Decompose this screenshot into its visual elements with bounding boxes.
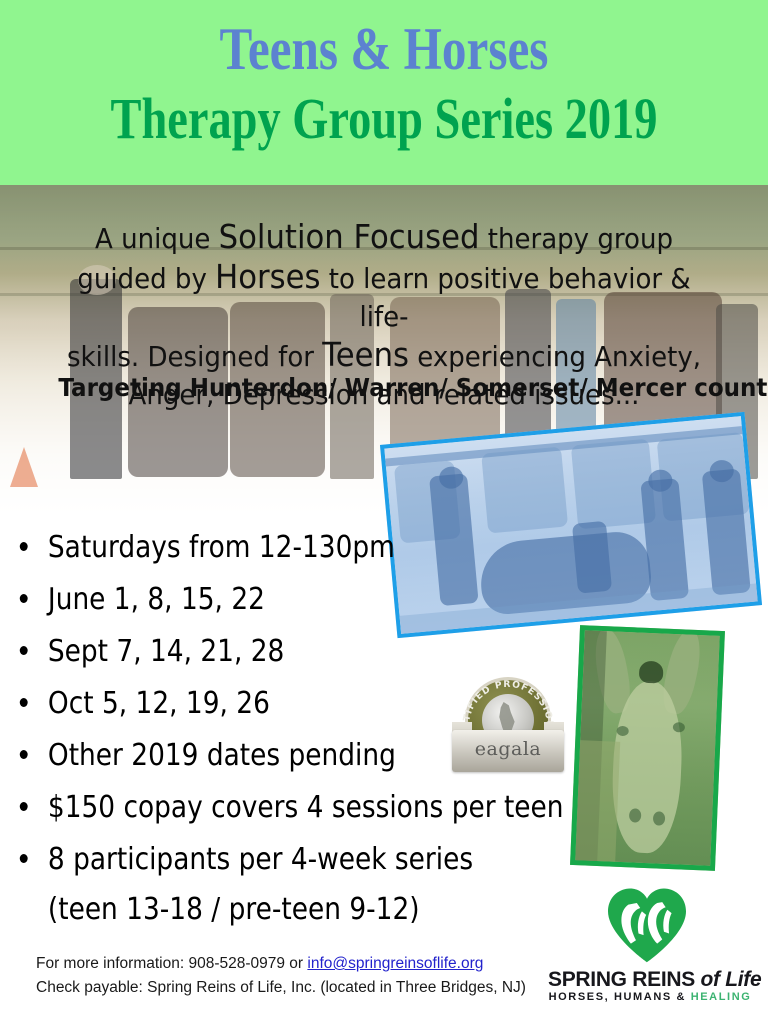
bullet-dot-icon <box>20 750 28 759</box>
flyer-page: Teens & Horses Therapy Group Series 2019… <box>0 0 768 1024</box>
list-item-label: June 1, 8, 15, 22 <box>48 582 265 617</box>
description-line-2: guided by Horses to learn positive behav… <box>64 258 704 336</box>
bullet-dot-icon <box>20 594 28 603</box>
bullet-dot-icon <box>20 854 28 863</box>
bullet-dot-icon <box>20 802 28 811</box>
header-band: Teens & Horses Therapy Group Series 2019 <box>0 0 768 185</box>
footer-line-2: Check payable: Spring Reins of Life, Inc… <box>36 976 526 1000</box>
description-line-1: A unique Solution Focused therapy group <box>64 218 704 258</box>
barn-stall-panel <box>481 447 568 534</box>
details-bullet-list: Saturdays from 12-130pm June 1, 8, 15, 2… <box>18 522 618 934</box>
bullet-dot-icon <box>20 542 28 551</box>
list-item-label: Oct 5, 12, 19, 26 <box>48 686 270 721</box>
traffic-cone <box>10 447 38 487</box>
logo-tagline-dark: HORSES, HUMANS & <box>549 991 691 1003</box>
page-title: Teens & Horses <box>69 16 699 82</box>
donkey-forelock <box>639 661 664 684</box>
list-item: Sept 7, 14, 21, 28 <box>18 626 546 678</box>
page-subtitle: Therapy Group Series 2019 <box>77 88 691 150</box>
list-item-label: $150 copay covers 4 sessions per teen <box>48 790 564 825</box>
footer-contact-info: For more information: 908-528-0979 or in… <box>36 952 526 1000</box>
list-item: Saturdays from 12-130pm <box>18 522 546 574</box>
bullet-dot-icon <box>20 646 28 655</box>
list-item-label: Saturdays from 12-130pm <box>48 530 395 565</box>
email-link[interactable]: info@springreinsoflife.org <box>307 955 483 972</box>
list-item: Other 2019 dates pending <box>18 730 546 782</box>
list-item-sublabel: (teen 13-18 / pre-teen 9-12) <box>48 886 546 934</box>
logo-name-bold: SPRING REINS <box>548 968 700 991</box>
logo-tagline: HORSES, HUMANS & HEALING <box>548 991 752 1003</box>
list-item: 8 participants per 4-week series (teen 1… <box>18 834 546 934</box>
list-item: Oct 5, 12, 19, 26 <box>18 678 546 730</box>
list-item-label: Other 2019 dates pending <box>48 738 396 773</box>
description-line-3: skills. Designed for Teens experiencing … <box>64 336 704 376</box>
heart-with-horses-icon <box>604 886 690 964</box>
list-item: $150 copay covers 4 sessions per teen <box>18 782 546 834</box>
bullet-dot-icon <box>20 698 28 707</box>
list-item-label: 8 participants per 4-week series <box>48 842 473 877</box>
footer-phone-text: For more information: 908-528-0979 or <box>36 955 307 972</box>
logo-name-italic: of Life <box>700 968 761 991</box>
donkey-eye-right <box>673 722 685 732</box>
logo-tagline-green: HEALING <box>691 991 752 1003</box>
list-item-label: Sept 7, 14, 21, 28 <box>48 634 284 669</box>
counties-line: Targeting Hunterdon/ Warren/ Somerset/ M… <box>58 372 709 404</box>
logo-name: SPRING REINS of Life <box>548 968 752 992</box>
list-item: June 1, 8, 15, 22 <box>18 574 546 626</box>
spring-reins-of-life-logo: SPRING REINS of Life HORSES, HUMANS & HE… <box>548 886 752 1006</box>
footer-line-1: For more information: 908-528-0979 or in… <box>36 952 526 976</box>
